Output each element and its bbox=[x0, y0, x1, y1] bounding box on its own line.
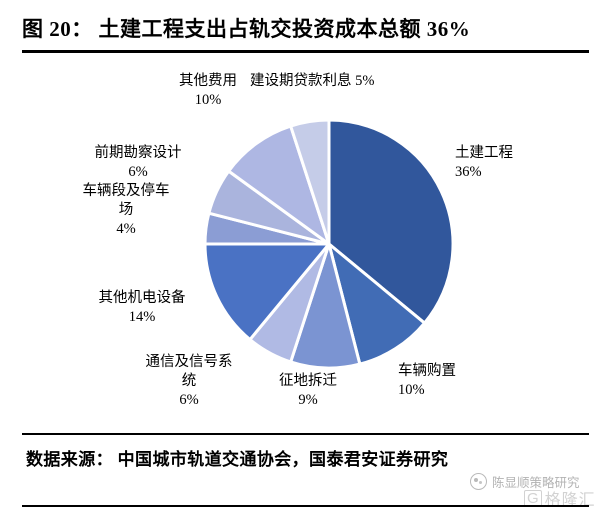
watermark-logo-icon bbox=[470, 473, 487, 490]
pie-label-jianshe-lixi: 建设期贷款利息 5% bbox=[250, 72, 430, 91]
pie-chart bbox=[203, 118, 455, 370]
source-divider-bottom bbox=[22, 505, 589, 507]
pie-label-tongxin-xinhao: 通信及信号系 统 6% bbox=[134, 353, 244, 410]
title-divider bbox=[22, 50, 589, 53]
pie-label-zhengdi-chaiqian: 征地拆迁 9% bbox=[263, 372, 353, 410]
figure-container: 图 20： 土建工程支出占轨交投资成本总额 36% 土建工程 36% 车辆购置 … bbox=[0, 0, 611, 511]
pie-label-qita-jidian: 其他机电设备 14% bbox=[77, 289, 207, 327]
chart-plot-area: 土建工程 36% 车辆购置 10% 征地拆迁 9% 通信及信号系 统 6% 其他… bbox=[0, 56, 611, 431]
source-divider-top bbox=[22, 433, 589, 435]
pie-label-tujian: 土建工程 36% bbox=[455, 144, 565, 182]
source-label: 数据来源： 中国城市轨道交通协会，国泰君安证券研究 bbox=[26, 445, 448, 470]
pie-label-cheliangduan: 车辆段及停车 场 4% bbox=[62, 182, 190, 239]
figure-title-bar: 图 20： 土建工程支出占轨交投资成本总额 36% bbox=[22, 14, 592, 50]
page-title: 图 20： 土建工程支出占轨交投资成本总额 36% bbox=[22, 14, 592, 44]
pie-label-cheliang-gouzhi: 车辆购置 10% bbox=[398, 362, 508, 400]
pie-label-qita-feiyong: 其他费用 10% bbox=[156, 72, 260, 110]
pie-label-qianqi-kancha: 前期勘察设计 6% bbox=[74, 144, 202, 182]
brand-mark-icon: G bbox=[524, 490, 542, 507]
